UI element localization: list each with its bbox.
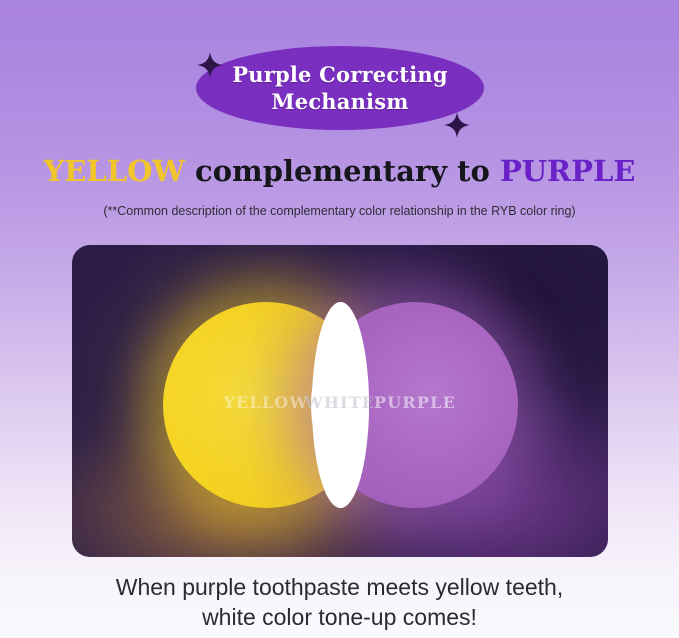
venn-diagram: YELLOW WHITE PURPLE xyxy=(72,245,608,557)
badge-purple-correcting-mechanism: Purple Correcting Mechanism xyxy=(196,46,484,130)
caption-line-2: white color tone-up comes! xyxy=(0,602,679,632)
caption-line-1: When purple toothpaste meets yellow teet… xyxy=(0,572,679,602)
venn-label-purple: PURPLE xyxy=(335,395,495,411)
headline-word-purple: PURPLE xyxy=(500,154,636,188)
subtitle-note: (**Common description of the complementa… xyxy=(0,204,679,218)
headline-word-yellow: YELLOW xyxy=(44,154,185,188)
venn-diagram-panel: YELLOW WHITE PURPLE xyxy=(72,245,608,557)
badge-text: Purple Correcting Mechanism xyxy=(196,46,484,130)
headline: YELLOW complementary to PURPLE xyxy=(0,157,679,186)
infographic-root: Purple Correcting Mechanism YELLOW compl… xyxy=(0,0,679,638)
headline-middle-text: complementary to xyxy=(185,154,500,188)
caption: When purple toothpaste meets yellow teet… xyxy=(0,572,679,633)
badge-line-2: Mechanism xyxy=(271,88,408,115)
badge-line-1: Purple Correcting xyxy=(232,61,447,88)
